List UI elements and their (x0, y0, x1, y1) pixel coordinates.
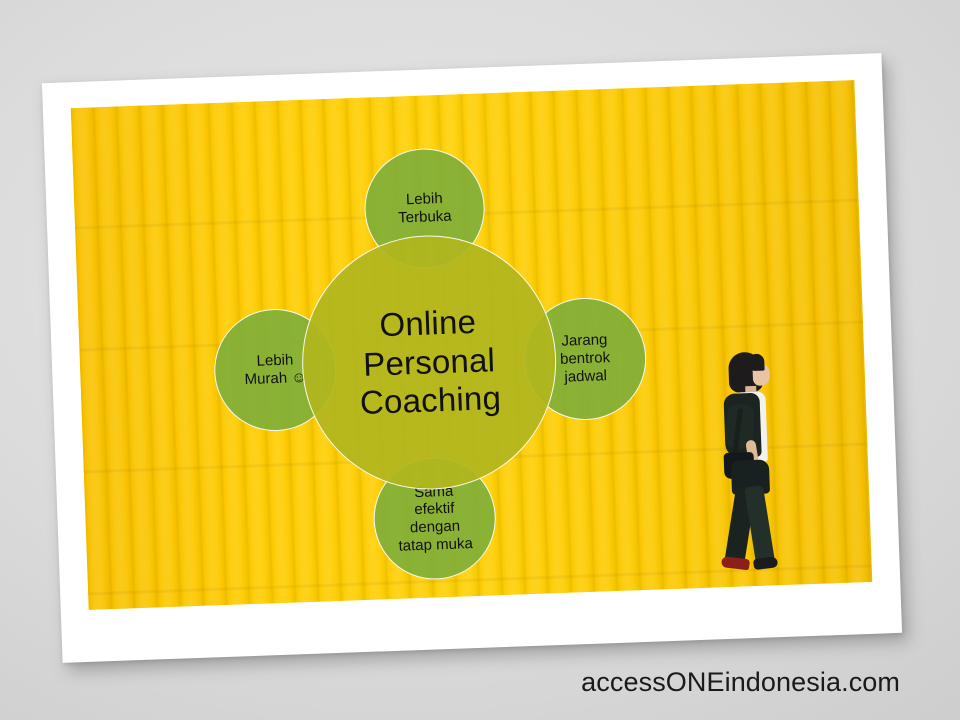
slide-canvas: Lebih Terbuka Jarang bentrok jadwal Sama… (0, 0, 960, 720)
bubble-left-line-1: Lebih (256, 352, 293, 370)
bubble-bottom-line-4: tatap muka (398, 535, 473, 555)
bubble-center-label: Online Personal Coaching (351, 301, 508, 423)
bubble-right-line-1: Jarang (561, 332, 607, 351)
bubble-online-personal-coaching: Online Personal Coaching (298, 231, 561, 494)
bubble-diagram: Lebih Terbuka Jarang bentrok jadwal Sama… (71, 80, 872, 610)
bubble-right-line-3: jadwal (564, 367, 607, 386)
bubble-center-line-1: Online (379, 302, 477, 342)
bubble-right-label: Jarang bentrok jadwal (553, 331, 617, 386)
bubble-bottom-line-3: dengan (410, 518, 461, 537)
bubble-top-line-1: Lebih (406, 190, 443, 208)
bubble-right-line-2: bentrok (560, 349, 611, 368)
bubble-bottom-label: Sama efektif dengan tatap muka (390, 482, 479, 556)
website-footer: accessONEindonesia.com (581, 667, 900, 698)
photo-frame: Lebih Terbuka Jarang bentrok jadwal Sama… (42, 53, 902, 663)
bubble-bottom-line-2: efektif (414, 500, 455, 518)
bubble-left-line-2: Murah ☺ (244, 369, 307, 388)
bubble-center-line-2: Personal (363, 341, 496, 383)
bubble-top-line-2: Terbuka (398, 208, 452, 227)
photo-image: Lebih Terbuka Jarang bentrok jadwal Sama… (71, 80, 872, 610)
bubble-center-line-3: Coaching (359, 379, 501, 421)
bubble-top-label: Lebih Terbuka (391, 190, 458, 228)
